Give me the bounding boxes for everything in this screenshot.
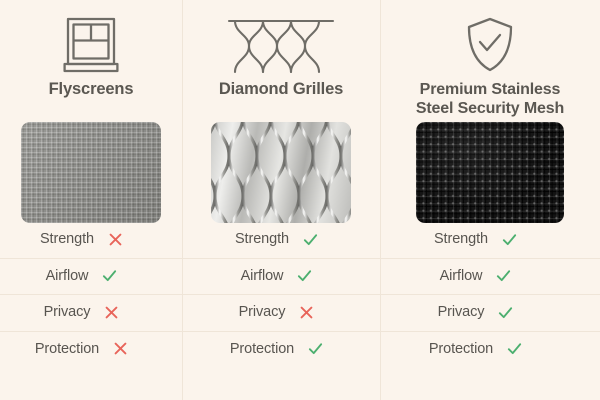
feature-label: Protection	[230, 341, 294, 357]
feature-label: Privacy	[44, 304, 91, 320]
feature-row: PrivacyPrivacyPrivacy	[0, 294, 600, 331]
product-title-flyscreens: Flyscreens	[49, 80, 134, 120]
feature-label: Strength	[434, 231, 488, 247]
gray-fine-mesh-swatch	[21, 122, 161, 223]
feature-label: Privacy	[239, 304, 286, 320]
check-icon	[497, 304, 514, 321]
feature-cell-diamond-grilles-privacy: Privacy	[182, 294, 380, 331]
feature-cell-flyscreens-airflow: Airflow	[0, 258, 182, 295]
cross-icon	[107, 231, 124, 248]
title-line-2: Steel Security Mesh	[416, 99, 564, 118]
feature-label: Airflow	[440, 268, 483, 284]
feature-label: Airflow	[241, 268, 284, 284]
title-line-1: Diamond Grilles	[219, 80, 343, 99]
check-icon	[302, 231, 319, 248]
product-title-diamond-grilles: Diamond Grilles	[219, 80, 343, 120]
check-icon	[506, 340, 523, 357]
feature-cell-diamond-grilles-airflow: Airflow	[182, 258, 380, 295]
metallic-diamond-lattice-swatch	[211, 122, 351, 223]
feature-cell-diamond-grilles-protection: Protection	[182, 331, 380, 368]
feature-label: Protection	[35, 341, 99, 357]
feature-cell-premium-stainless-steel-security-mesh-airflow: Airflow	[380, 258, 600, 295]
cross-icon	[298, 304, 315, 321]
check-icon	[307, 340, 324, 357]
feature-cell-premium-stainless-steel-security-mesh-protection: Protection	[380, 331, 600, 368]
title-line-1: Premium Stainless	[416, 80, 564, 99]
feature-row: StrengthStrengthStrength	[0, 221, 600, 258]
title-line-1: Flyscreens	[49, 80, 134, 99]
check-icon	[495, 267, 512, 284]
feature-label: Strength	[40, 231, 94, 247]
check-icon	[501, 231, 518, 248]
feature-label: Strength	[235, 231, 289, 247]
cross-icon	[103, 304, 120, 321]
feature-label: Protection	[429, 341, 493, 357]
black-woven-mesh-swatch	[416, 122, 564, 223]
feature-cell-flyscreens-strength: Strength	[0, 221, 182, 258]
check-icon	[296, 267, 313, 284]
feature-cell-diamond-grilles-strength: Strength	[182, 221, 380, 258]
comparison-board: Flyscreens	[0, 0, 600, 400]
feature-cell-flyscreens-protection: Protection	[0, 331, 182, 368]
feature-row: ProtectionProtectionProtection	[0, 331, 600, 368]
feature-row: AirflowAirflowAirflow	[0, 258, 600, 295]
feature-cell-flyscreens-privacy: Privacy	[0, 294, 182, 331]
feature-cell-premium-stainless-steel-security-mesh-privacy: Privacy	[380, 294, 600, 331]
check-icon	[101, 267, 118, 284]
shield-check-icon	[465, 14, 515, 76]
feature-label: Airflow	[46, 268, 89, 284]
feature-label: Privacy	[438, 304, 485, 320]
diamond-lattice-icon	[225, 14, 337, 76]
product-title-security-mesh: Premium Stainless Steel Security Mesh	[416, 80, 564, 120]
feature-cell-premium-stainless-steel-security-mesh-strength: Strength	[380, 221, 600, 258]
cross-icon	[112, 340, 129, 357]
window-icon	[63, 14, 119, 76]
